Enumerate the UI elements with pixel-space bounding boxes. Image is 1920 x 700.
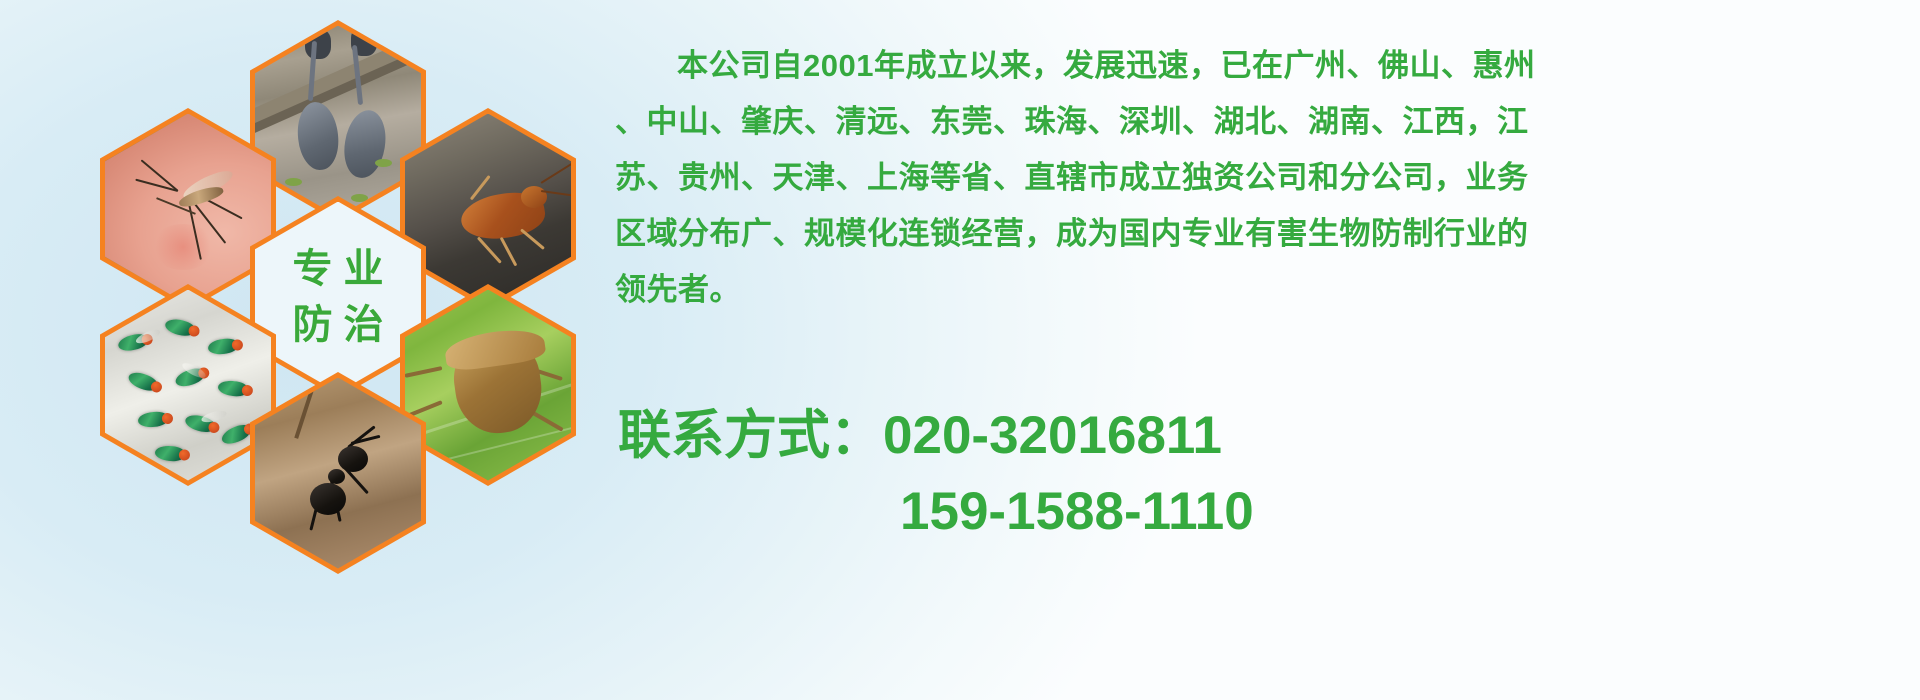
cockroach-photo: [405, 114, 571, 305]
stinkbug-photo: [405, 290, 571, 481]
hex-logo-center: [250, 196, 426, 398]
rats-photo: [255, 26, 421, 217]
intro-line: 领先者。: [615, 262, 1915, 318]
contact-mobile: 159-1588-1110: [618, 474, 1908, 550]
flies-photo: [105, 290, 271, 481]
contact-landline: 联系方式：020-32016811: [618, 398, 1908, 474]
intro-line: 苏、贵州、天津、上海等省、直辖市成立独资公司和分公司，业务: [615, 150, 1915, 206]
contact-block: 联系方式：020-32016811 159-1588-1110: [618, 398, 1908, 550]
intro-line: 区域分布广、规模化连锁经营，成为国内专业有害生物防制行业的: [615, 206, 1915, 262]
ant-photo: [255, 378, 421, 569]
banner-stage: 专业 防治: [0, 0, 1920, 700]
mosquito-photo: [105, 114, 271, 305]
hex-photo-mosquito: [100, 108, 276, 310]
intro-line: 、中山、肇庆、清远、东莞、珠海、深圳、湖北、湖南、江西，江: [615, 94, 1915, 150]
hex-photo-ant: [250, 372, 426, 574]
hexagon-photo-cluster: 专业 防治: [78, 8, 598, 553]
hex-photo-cockroach: [400, 108, 576, 310]
intro-line: 本公司自2001年成立以来，发展迅速，已在广州、佛山、惠州: [615, 38, 1915, 94]
hex-photo-stinkbug: [400, 284, 576, 486]
hex-photo-flies: [100, 284, 276, 486]
hex-photo-rats: [250, 20, 426, 222]
intro-paragraph: 本公司自2001年成立以来，发展迅速，已在广州、佛山、惠州 、中山、肇庆、清远、…: [615, 38, 1915, 318]
